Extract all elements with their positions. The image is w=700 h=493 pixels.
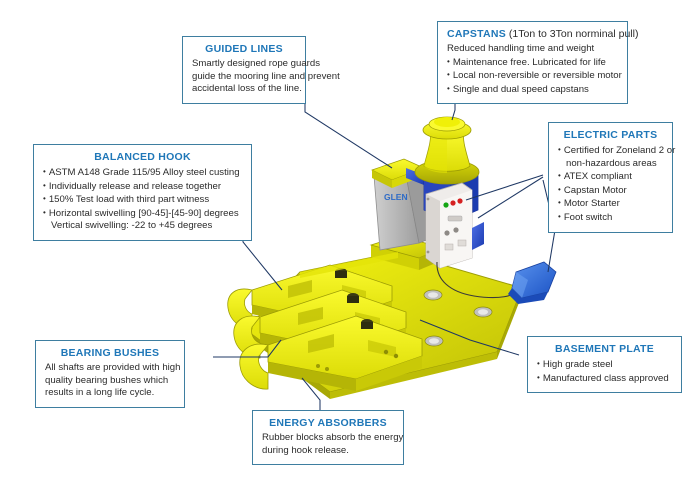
- leader-guided-lines: [305, 102, 392, 168]
- callout-basement-plate: BASEMENT PLATEHigh grade steelManufactur…: [527, 336, 682, 393]
- callout-line: non-hazardous areas: [558, 158, 663, 171]
- callout-line: accidental loss of the line.: [192, 83, 296, 96]
- callout-line: Capstan Motor: [558, 184, 663, 198]
- callout-line: Certified for Zoneland 2 or: [558, 144, 663, 158]
- callout-title: BEARING BUSHES: [45, 347, 175, 359]
- callout-line: during hook release.: [262, 445, 394, 458]
- leader-basement-plate: [420, 320, 519, 355]
- callout-guided-lines: GUIDED LINESSmartly designed rope guards…: [182, 36, 306, 104]
- callout-line: Smartly designed rope guards: [192, 58, 296, 71]
- leader-electric-motor: [478, 177, 543, 218]
- callout-line: Horizontal swivelling [90-45]-[45-90] de…: [43, 207, 242, 221]
- callout-title: ELECTRIC PARTS: [558, 129, 663, 141]
- callout-title-suffix: (1Ton to 3Ton norminal pull): [506, 28, 639, 40]
- callout-line: Local non-reversible or reversible motor: [447, 69, 618, 83]
- callout-line: Maintenance free. Lubricated for life: [447, 56, 618, 70]
- callout-title: CAPSTANS (1Ton to 3Ton norminal pull): [447, 28, 618, 40]
- callout-line: guide the mooring line and prevent: [192, 71, 296, 84]
- callout-capstans: CAPSTANS (1Ton to 3Ton norminal pull)Red…: [437, 21, 628, 104]
- callout-title: BASEMENT PLATE: [537, 343, 672, 355]
- callout-line: All shafts are provided with high: [45, 362, 175, 375]
- callout-title: BALANCED HOOK: [43, 151, 242, 163]
- callout-electric-parts: ELECTRIC PARTSCertified for Zoneland 2 o…: [548, 122, 673, 233]
- diagram-page: GLEN: [0, 0, 700, 493]
- callout-bearing-bushes: BEARING BUSHESAll shafts are provided wi…: [35, 340, 185, 408]
- callout-line: ASTM A148 Grade 115/95 Alloy steel custi…: [43, 166, 242, 180]
- callout-line: 150% Test load with third part witness: [43, 193, 242, 207]
- callout-line: Foot switch: [558, 211, 663, 225]
- callout-line: results in a long life cycle.: [45, 387, 175, 400]
- callout-title: GUIDED LINES: [192, 43, 296, 55]
- callout-line: Vertical swivelling: -22 to +45 degrees: [43, 220, 242, 233]
- callout-line: Rubber blocks absorb the energy: [262, 432, 394, 445]
- callout-energy-absorbers: ENERGY ABSORBERSRubber blocks absorb the…: [252, 410, 404, 465]
- leader-electric-panel: [466, 175, 543, 200]
- callout-line: Individually release and release togethe…: [43, 180, 242, 194]
- callout-line: High grade steel: [537, 358, 672, 372]
- callout-line: Reduced handling time and weight: [447, 43, 618, 56]
- callout-line: Single and dual speed capstans: [447, 83, 618, 97]
- leader-capstans: [452, 102, 455, 120]
- leader-energy-absorbers: [302, 378, 320, 412]
- callout-line: Manufactured class approved: [537, 372, 672, 386]
- callout-balanced-hook: BALANCED HOOKASTM A148 Grade 115/95 Allo…: [33, 144, 252, 241]
- leader-bearing-bushes: [213, 340, 281, 357]
- callout-line: Motor Starter: [558, 197, 663, 211]
- callout-line: quality bearing bushes which: [45, 375, 175, 388]
- callout-title: ENERGY ABSORBERS: [262, 417, 394, 429]
- callout-line: ATEX compliant: [558, 170, 663, 184]
